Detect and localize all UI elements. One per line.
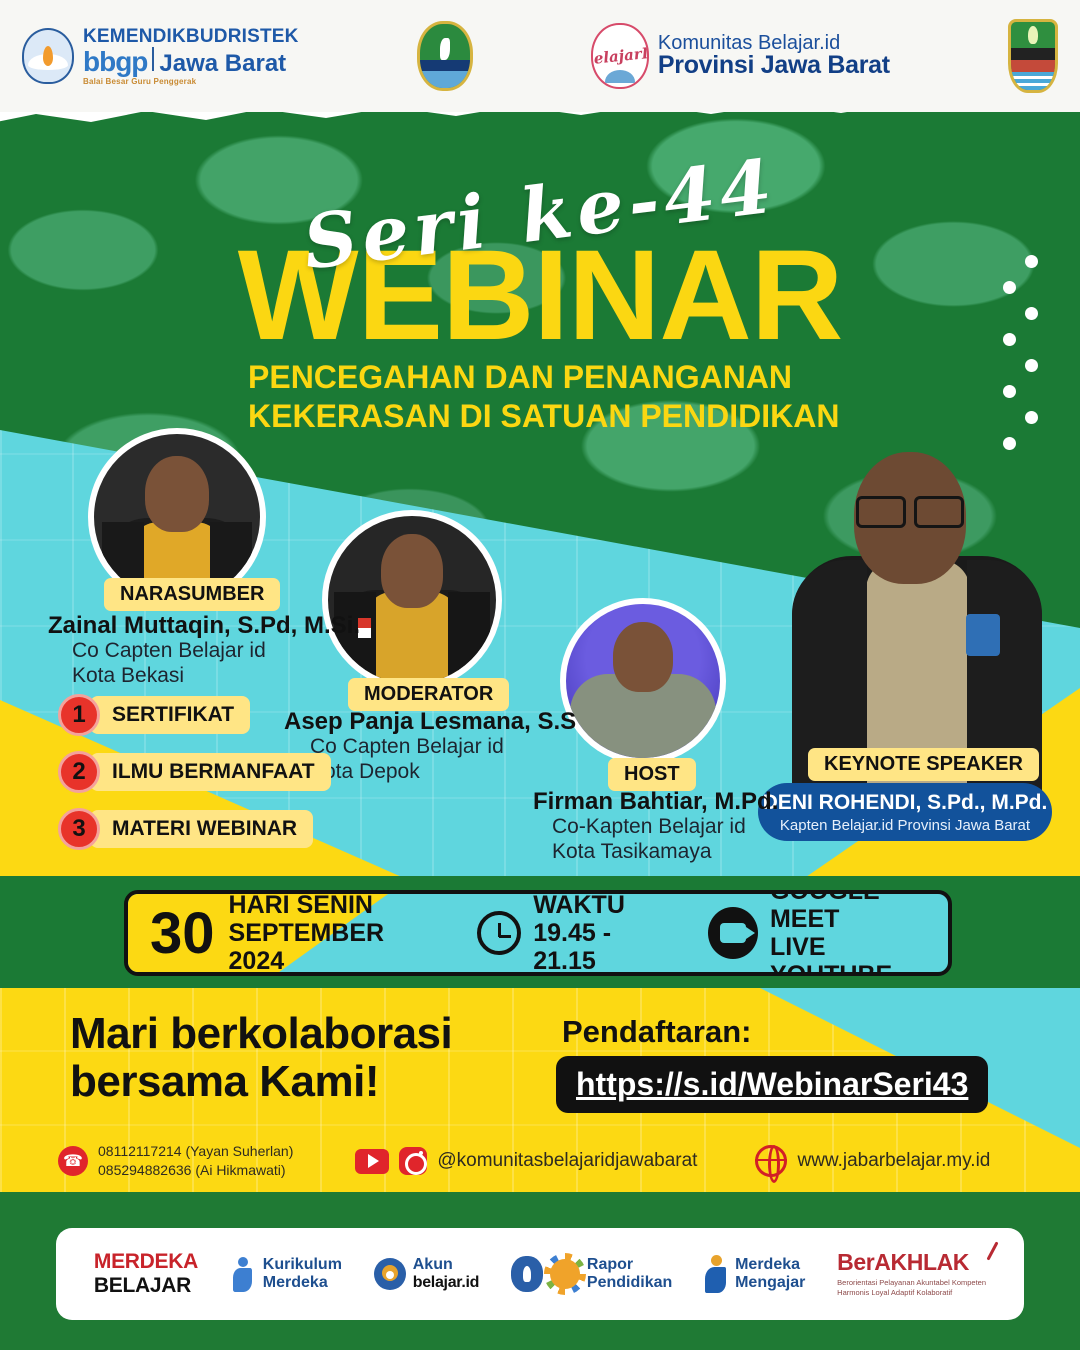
jawa-barat-emblem — [417, 21, 473, 91]
instagram-icon[interactable] — [399, 1147, 427, 1175]
tut-wuri-handayani-icon — [22, 28, 74, 84]
globe-icon — [755, 1145, 787, 1177]
rapor-line1: Rapor — [587, 1256, 672, 1274]
kurikulum-merdeka-icon — [230, 1255, 256, 1293]
rapor-pendidikan-logo: Rapor Pendidikan — [511, 1256, 672, 1292]
mengajar-line2: Mengajar — [735, 1274, 805, 1292]
akun-line2: belajar.id — [413, 1274, 479, 1292]
list-item: 1 SERTIFIKAT — [58, 694, 331, 736]
event-details-bar: 30 HARI SENIN SEPTEMBER 2024 WAKTU 19.45… — [124, 890, 952, 976]
website-url: www.jabarbelajar.my.id — [797, 1150, 990, 1172]
mengajar-line1: Merdeka — [735, 1256, 805, 1274]
benefit-label: MATERI WEBINAR — [90, 810, 313, 848]
divider — [152, 47, 154, 71]
bbgp-region: Jawa Barat — [159, 52, 286, 76]
webinar-poster: KEMENDIKBUDRISTEK bbgp Jawa Barat Balai … — [0, 0, 1080, 1350]
benefit-label: ILMU BERMANFAAT — [90, 753, 331, 791]
rapor-line2: Pendidikan — [587, 1274, 672, 1292]
benefit-number: 1 — [58, 694, 100, 736]
clock-icon — [477, 911, 521, 955]
tut-wuri-icon — [511, 1256, 543, 1292]
platform-line2: LIVE YOUTUBE — [770, 933, 948, 976]
logo-header: KEMENDIKBUDRISTEK bbgp Jawa Barat Balai … — [0, 0, 1080, 112]
akun-belajar-icon — [374, 1258, 406, 1290]
registration-url[interactable]: https://s.id/WebinarSeri43 — [576, 1066, 968, 1102]
benefit-number: 3 — [58, 808, 100, 850]
keynote-speaker-card: DENI ROHENDI, S.Pd., M.Pd. Kapten Belaja… — [758, 783, 1052, 841]
event-day-number: 30 — [150, 900, 215, 967]
merdeka-belajar-logo: MERDEKA BELAJAR — [94, 1250, 198, 1297]
event-day-name: HARI SENIN — [229, 891, 438, 919]
keynote-name: DENI ROHENDI, S.Pd., M.Pd. — [763, 791, 1048, 815]
time-label: WAKTU — [533, 891, 674, 919]
phone-icon: ☎ — [58, 1146, 88, 1176]
social-handle: @komunitasbelajaridjawabarat — [437, 1150, 697, 1172]
kurikulum-merdeka-logo: Kurikulum Merdeka — [230, 1255, 342, 1293]
berakhlak-tagline: Berorientasi Pelayanan Akuntabel Kompete… — [837, 1278, 986, 1298]
belajar-id-script: BelajarId — [591, 43, 649, 69]
merdeka-mengajar-icon — [704, 1255, 728, 1293]
komunitas-line1: Komunitas Belajar.id — [658, 33, 890, 54]
rapor-sun-icon — [550, 1259, 580, 1289]
komunitas-belajar-logo: BelajarId Komunitas Belajar.id Provinsi … — [591, 23, 890, 89]
host-name: Firman Bahtiar, M.Pd. — [533, 788, 778, 816]
social-contact[interactable]: @komunitasbelajaridjawabarat — [355, 1147, 697, 1175]
kurikulum-line1: Kurikulum — [263, 1256, 342, 1274]
bbgp-logo: KEMENDIKBUDRISTEK bbgp Jawa Barat Balai … — [22, 27, 299, 86]
contact-row: ☎ 08112117214 (Yayan Suherlan) 085294882… — [0, 1130, 1080, 1192]
phone-contact: ☎ 08112117214 (Yayan Suherlan) 085294882… — [58, 1142, 293, 1180]
akun-line1: Akun — [413, 1256, 479, 1274]
komunitas-line2: Provinsi Jawa Barat — [658, 53, 890, 79]
keynote-detail: Kapten Belajar.id Provinsi Jawa Barat — [780, 817, 1030, 834]
list-item: 3 MATERI WEBINAR — [58, 808, 331, 850]
merdeka-mengajar-logo: Merdeka Mengajar — [704, 1255, 805, 1293]
kurikulum-line2: Merdeka — [263, 1274, 342, 1292]
video-camera-icon — [708, 907, 758, 959]
akun-belajar-logo: Akun belajar.id — [374, 1256, 479, 1292]
narasumber-role-badge: NARASUMBER — [104, 578, 280, 611]
keynote-role-badge: KEYNOTE SPEAKER — [808, 748, 1039, 781]
host-role-badge: HOST — [608, 758, 696, 791]
narasumber-name: Zainal Muttaqin, S.Pd, M.Si. — [48, 612, 360, 640]
benefits-list: 1 SERTIFIKAT 2 ILMU BERMANFAAT 3 MATERI … — [58, 694, 331, 865]
host-detail: Co-Kapten Belajar id Kota Tasikamaya — [552, 814, 746, 864]
moderator-photo — [322, 510, 502, 690]
event-month-year: SEPTEMBER 2024 — [229, 919, 438, 975]
glasses-icon — [856, 496, 964, 522]
kabupaten-emblem — [1008, 19, 1058, 93]
benefit-label: SERTIFIKAT — [90, 696, 250, 734]
moderator-role-badge: MODERATOR — [348, 678, 509, 711]
moderator-detail: Co Capten Belajar id Kota Depok — [310, 734, 504, 784]
platform-line1: GOOGLE MEET — [770, 890, 948, 933]
berakhlak-logo: BerAKHLAK Berorientasi Pelayanan Akuntab… — [837, 1250, 986, 1297]
host-photo — [560, 598, 726, 764]
bbgp-acronym: bbgp — [83, 48, 147, 76]
partner-logos: MERDEKA BELAJAR Kurikulum Merdeka Akun b… — [56, 1228, 1024, 1320]
merdeka-belajar-line2: BELAJAR — [94, 1274, 198, 1298]
list-item: 2 ILMU BERMANFAAT — [58, 751, 331, 793]
phone-numbers: 08112117214 (Yayan Suherlan) 08529488263… — [98, 1142, 293, 1180]
youtube-icon[interactable] — [355, 1149, 389, 1174]
registration-label: Pendaftaran: — [562, 1014, 751, 1050]
province-seal-icon — [417, 21, 473, 91]
registration-link-box[interactable]: https://s.id/WebinarSeri43 — [556, 1056, 988, 1113]
narasumber-detail: Co Capten Belajar id Kota Bekasi — [72, 638, 266, 688]
website-contact[interactable]: www.jabarbelajar.my.id — [755, 1145, 990, 1177]
kabupaten-seal-icon — [1008, 19, 1058, 93]
benefit-number: 2 — [58, 751, 100, 793]
time-value: 19.45 - 21.15 — [533, 919, 674, 975]
collaboration-slogan: Mari berkolaborasi bersama Kami! — [70, 1010, 452, 1107]
berakhlak-title: BerAKHLAK — [837, 1250, 986, 1276]
bbgp-ministry-name: KEMENDIKBUDRISTEK — [83, 27, 299, 46]
bbgp-tagline: Balai Besar Guru Penggerak — [83, 78, 299, 86]
merdeka-belajar-line1: MERDEKA — [94, 1250, 198, 1274]
belajar-id-seal-icon: BelajarId — [591, 23, 649, 89]
